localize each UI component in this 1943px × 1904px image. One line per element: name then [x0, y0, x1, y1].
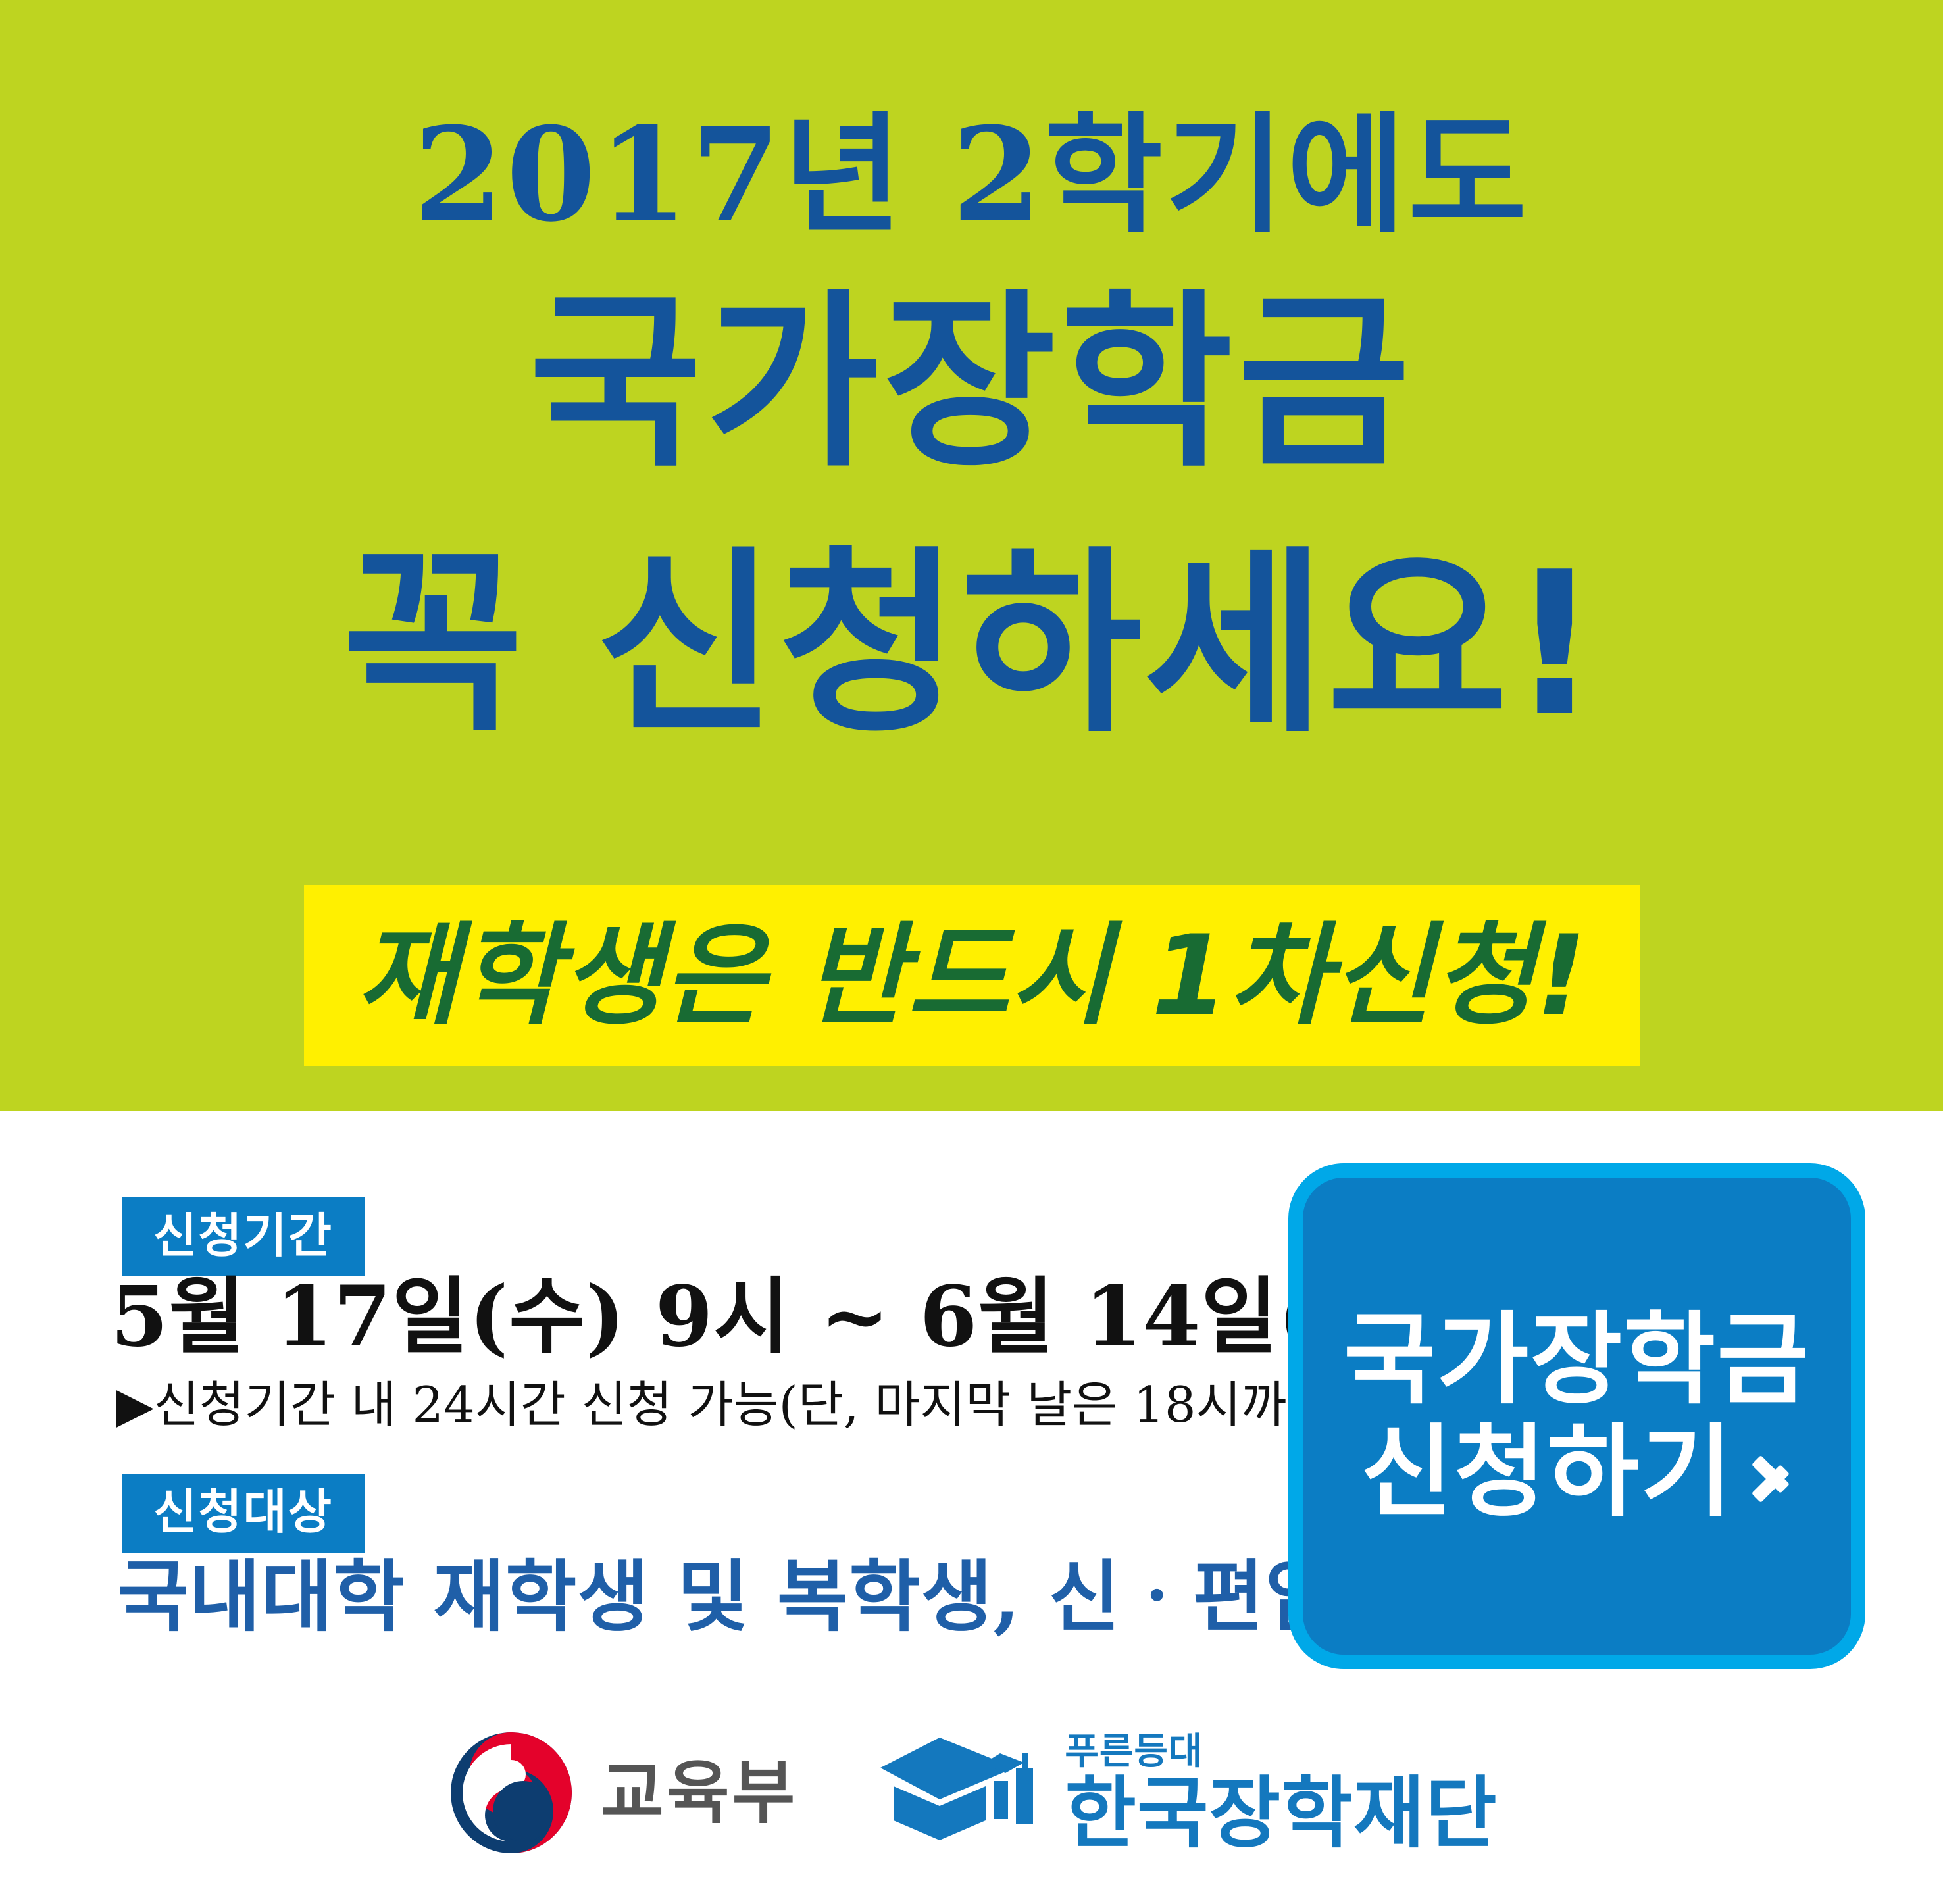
kosaf-wordmark: 푸른등대 한국장학재단	[1065, 1734, 1497, 1852]
badge-application-period: 신청기간	[122, 1197, 365, 1276]
footer-logos: 교육부 푸른등대 한국장학재단	[0, 1727, 1943, 1904]
hero-eyebrow: 2017년 2학기에도	[0, 111, 1943, 239]
hero-section: 2017년 2학기에도 국가장학금 꼭 신청하세요! 재학생은 반드시 1차신청…	[0, 0, 1943, 1111]
kosaf-name: 한국장학재단	[1065, 1774, 1497, 1852]
ministry-of-education-logo: 교육부	[445, 1727, 797, 1859]
application-period-note: ▶신청기간 내 24시간 신청 가능(단, 마지막 날은 18시까지)	[116, 1380, 1351, 1430]
scholarship-announcement-banner: 2017년 2학기에도 국가장학금 꼭 신청하세요! 재학생은 반드시 1차신청…	[0, 0, 1943, 1904]
chevron-right-icon	[1751, 1436, 1793, 1509]
hero-title-line-1: 국가장학금	[0, 289, 1943, 478]
ministry-of-education-name: 교육부	[601, 1759, 797, 1827]
hero-title-line-2: 꼭 신청하세요!	[0, 546, 1943, 743]
apply-scholarship-button[interactable]: 국가장학금 신청하기	[1288, 1163, 1865, 1669]
badge-application-target: 신청대상	[122, 1474, 365, 1553]
cta-label-line-2: 신청하기	[1361, 1416, 1734, 1528]
korea-government-taegeuk-icon	[445, 1727, 577, 1859]
application-target-value: 국내대학 재학생 및 복학생, 신ㆍ편입학생	[117, 1558, 1481, 1636]
kosaf-sub-name: 푸른등대	[1065, 1734, 1497, 1770]
highlight-text: 재학생은 반드시 1차신청!	[357, 920, 1587, 1031]
kosaf-logo: 푸른등대 한국장학재단	[876, 1727, 1497, 1859]
highlight-box: 재학생은 반드시 1차신청!	[304, 885, 1640, 1066]
graduation-cap-icon	[876, 1727, 1047, 1859]
cta-label-line-2-row: 신청하기	[1361, 1416, 1793, 1528]
cta-label-line-1: 국가장학금	[1344, 1304, 1810, 1416]
